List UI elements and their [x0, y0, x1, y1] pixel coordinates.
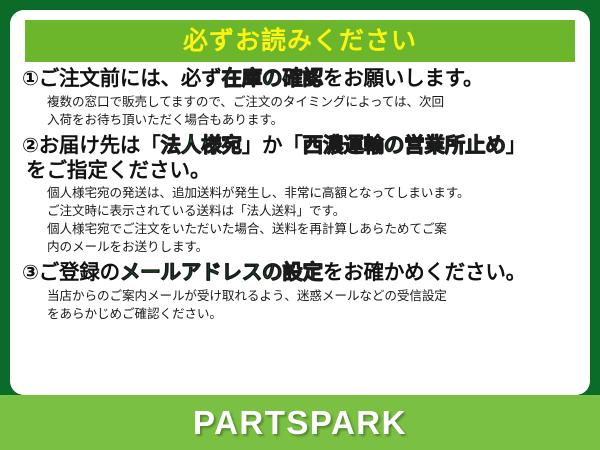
notice-body-line: 個人様宅宛の発送は、追加送料が発生し、非常に高額となってしまいます。 — [47, 185, 578, 203]
notice-body-line: をあらかじめご確認ください。 — [47, 306, 578, 324]
notice-body-line: 複数の窓口で販売してますので、ご注文のタイミングによっては、次回 — [47, 94, 578, 112]
highlighted-phrase: 法人様宛 — [161, 134, 242, 157]
notice-item-heading: ①ご注文前には、必ず在庫の確認をお願いします。 — [22, 66, 578, 92]
notice-panel: 必ずお読みください ①ご注文前には、必ず在庫の確認をお願いします。複数の窓口で販… — [10, 10, 590, 395]
notice-item-number: ③ — [22, 262, 39, 284]
notice-item-body: 当店からのご案内メールが受け取れるよう、迷惑メールなどの受信設定をあらかじめご確… — [22, 288, 578, 324]
highlighted-phrase: 西濃運輸の営業所止め — [303, 134, 506, 157]
notice-banner: 必ずお読みください ①ご注文前には、必ず在庫の確認をお願いします。複数の窓口で販… — [0, 0, 600, 450]
highlighted-phrase: 在庫の確認 — [221, 67, 323, 90]
notice-item: ①ご注文前には、必ず在庫の確認をお願いします。複数の窓口で販売してますので、ご注… — [22, 66, 578, 130]
page-title: 必ずお読みください — [25, 20, 575, 62]
heading-text: ご登録の — [39, 261, 120, 284]
notice-body-line: 内のメールをお送りします。 — [47, 239, 578, 257]
heading-text: をお確かめください。 — [323, 261, 526, 284]
notice-item-body: 個人様宅宛の発送は、追加送料が発生し、非常に高額となってしまいます。ご注文時に表… — [22, 185, 578, 257]
notice-item-body: 複数の窓口で販売してますので、ご注文のタイミングによっては、次回入荷をお待ち頂い… — [22, 94, 578, 130]
notice-item-number: ② — [22, 135, 39, 157]
heading-text: 」 — [506, 134, 526, 157]
heading-text: ご注文前には、必ず — [39, 67, 222, 90]
notice-body-line: 個人様宅宛でご注文をいただいた場合、送料を再計算しあらためてご案 — [47, 221, 578, 239]
brand-name: PARTSPARK — [0, 395, 600, 450]
notice-item-heading-line2: をご指定ください。 — [22, 158, 578, 183]
notice-item: ③ご登録のメールアドレスの設定をお確かめください。当店からのご案内メールが受け取… — [22, 260, 578, 324]
notice-body-line: ご注文時に表示されている送料は「法人送料」です。 — [47, 203, 578, 221]
highlighted-phrase: メールアドレスの設定 — [120, 261, 323, 284]
heading-text: をお願いします。 — [323, 67, 483, 90]
notice-body-line: 入荷をお待ち頂いただく場合もあります。 — [47, 112, 578, 130]
notice-item-heading: ②お届け先は「法人様宛」か「西濃運輸の営業所止め」 — [22, 133, 578, 159]
heading-text: 」か「 — [242, 134, 303, 157]
notice-item-heading: ③ご登録のメールアドレスの設定をお確かめください。 — [22, 260, 578, 286]
notice-item: ②お届け先は「法人様宛」か「西濃運輸の営業所止め」をご指定ください。個人様宅宛の… — [22, 133, 578, 257]
header-bar: 必ずお読みください — [25, 20, 575, 62]
heading-text: お届け先は「 — [39, 134, 161, 157]
notice-item-number: ① — [22, 68, 39, 90]
footer-brand-bar: PARTSPARK — [0, 395, 600, 450]
notice-body-line: 当店からのご案内メールが受け取れるよう、迷惑メールなどの受信設定 — [47, 288, 578, 306]
notice-items-list: ①ご注文前には、必ず在庫の確認をお願いします。複数の窓口で販売してますので、ご注… — [10, 66, 590, 326]
